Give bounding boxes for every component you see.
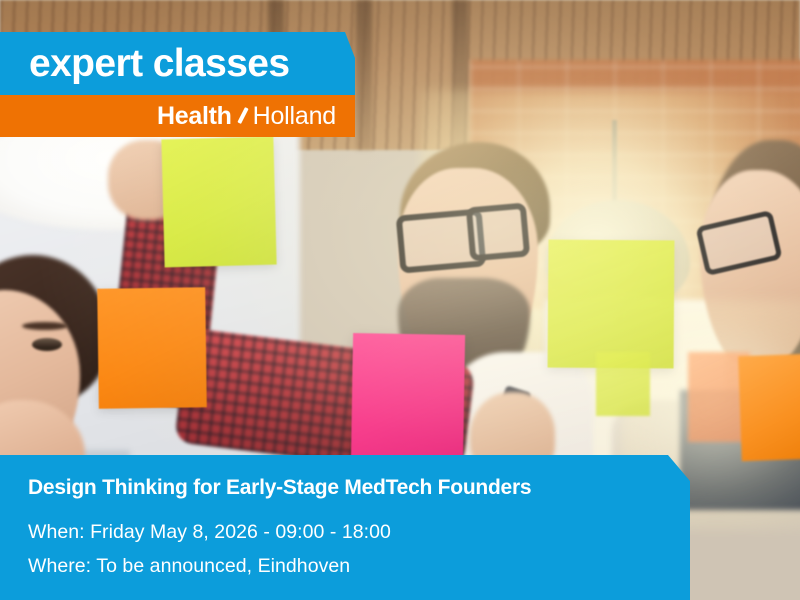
logo-health-text: Health [157, 104, 232, 129]
event-details: When: Friday May 8, 2026 - 09:00 - 18:00… [28, 515, 391, 583]
expert-classes-label: expert classes [29, 44, 289, 83]
person-left-eye [32, 338, 62, 351]
event-where-line: Where: To be announced, Eindhoven [28, 549, 391, 583]
slash-icon [237, 107, 250, 124]
note-yellow-center [548, 240, 675, 369]
expert-classes-banner: expert classes [0, 32, 355, 95]
person-left-eyebrow [22, 322, 68, 330]
event-title: Design Thinking for Early-Stage MedTech … [28, 476, 531, 500]
event-when-line: When: Friday May 8, 2026 - 09:00 - 18:00 [28, 515, 391, 549]
note-yellow-small [596, 352, 650, 416]
person-center-glasses-right-lens [466, 202, 530, 261]
note-pink [351, 333, 465, 465]
note-orange-right [738, 354, 800, 461]
note-yellow-top [161, 137, 276, 268]
health-holland-logo-bar: Health Holland [0, 95, 355, 137]
logo-holland-text: Holland [253, 104, 336, 129]
event-poster: expert classes Health Holland Design Thi… [0, 0, 800, 600]
ceiling-beam-2 [356, 0, 372, 150]
health-holland-logo: Health Holland [157, 104, 336, 129]
note-orange-left [97, 287, 207, 408]
event-info-banner: Design Thinking for Early-Stage MedTech … [0, 455, 690, 600]
